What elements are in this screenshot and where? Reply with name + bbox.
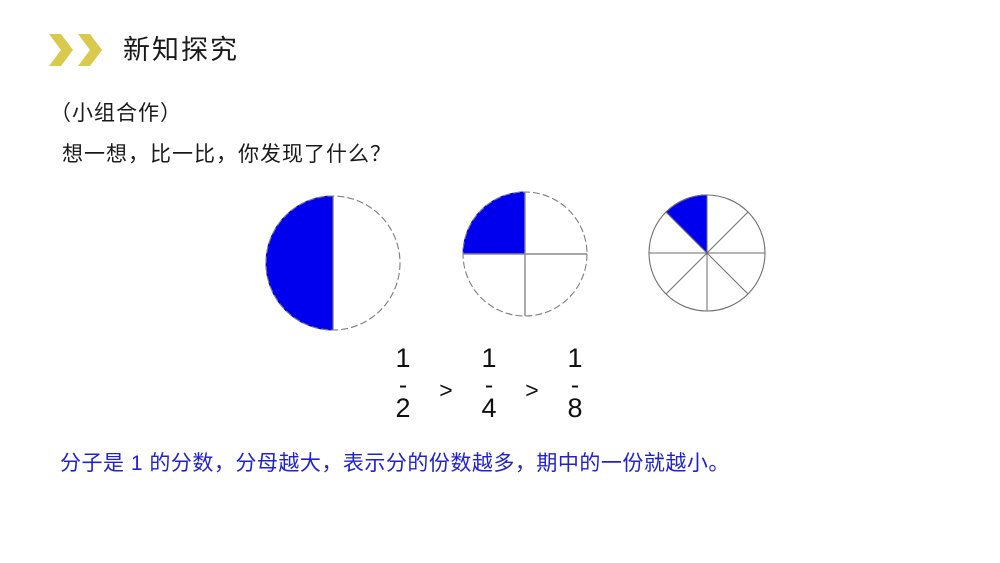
chevron-right-icon <box>77 33 103 67</box>
circle-outline <box>463 192 587 316</box>
denominator: 2 <box>395 395 410 425</box>
shaded-sector-1-of-2 <box>266 196 333 330</box>
divider-diagonal-ne-sw <box>666 212 748 294</box>
section-header: 新知探究 <box>48 26 239 74</box>
fraction-one-quarter: 1 - 4 <box>476 345 502 425</box>
greater-than-operator: > <box>416 377 476 404</box>
page-title: 新知探究 <box>123 37 239 64</box>
greater-than-operator: > <box>502 377 562 404</box>
fraction-bar: - <box>399 375 407 395</box>
slide-canvas: 新知探究 （小组合作） 想一想，比一比，你发现了什么？ <box>0 0 1000 563</box>
divider-diagonal-nw-se <box>666 212 748 294</box>
circle-diagram-half <box>266 196 400 330</box>
fraction-comparison-row: 1 - 2 > 1 - 4 > 1 - 8 <box>390 345 588 425</box>
group-work-label: （小组合作） <box>50 97 182 127</box>
diagram-canvas <box>0 0 1000 563</box>
chevron-right-icon <box>48 33 74 67</box>
fraction-bar: - <box>571 375 579 395</box>
fraction-bar: - <box>485 375 493 395</box>
fraction-one-eighth: 1 - 8 <box>562 345 588 425</box>
circle-outline <box>649 195 765 311</box>
shaded-sector-1-of-4 <box>463 192 525 254</box>
question-text: 想一想，比一比，你发现了什么？ <box>62 138 392 168</box>
circle-diagram-quarter <box>463 192 587 316</box>
fraction-diagrams <box>0 0 1000 563</box>
fraction-one-half: 1 - 2 <box>390 345 416 425</box>
denominator: 4 <box>481 395 496 425</box>
denominator: 8 <box>567 395 582 425</box>
circle-outline <box>266 196 400 330</box>
circle-diagram-eighth <box>649 195 765 311</box>
shaded-sector-1-of-8 <box>666 195 707 253</box>
chevron-group <box>48 33 103 67</box>
conclusion-text: 分子是 1 的分数，分母越大，表示分的份数越多，期中的一份就越小。 <box>60 447 730 477</box>
